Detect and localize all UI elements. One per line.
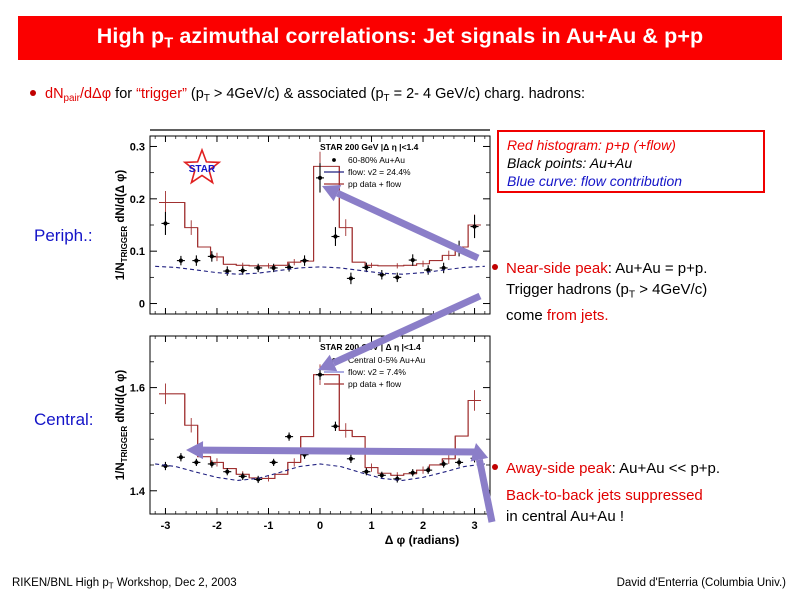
data-point [302, 453, 306, 457]
legend-point-marker [332, 358, 336, 362]
data-point [411, 471, 415, 475]
plot-legend-header: STAR 200 GeV |Δ η |<1.4 [320, 142, 419, 152]
data-point [333, 424, 337, 428]
y-axis-title: 1/NTRIGGER dN/d(Δ φ) [115, 170, 129, 281]
annotation-away-line-3: in central Au+Au ! [492, 506, 792, 527]
label-central: Central: [34, 410, 94, 430]
data-point [210, 462, 214, 466]
data-point [179, 455, 183, 459]
annot-near-head: Near-side peak [506, 260, 608, 277]
annotation-near-line-2: Trigger hadrons (pT > 4GeV/c) [492, 279, 792, 305]
annot-away-l2: Back-to-back jets suppressed [506, 487, 703, 504]
x-tick-label: 0 [317, 520, 323, 532]
data-point [287, 435, 291, 439]
legend-entry-label: flow: v2 = 7.4% [348, 367, 406, 377]
data-point [179, 259, 183, 263]
plot-frame [150, 336, 490, 514]
legend-entry-label: flow: v2 = 24.4% [348, 167, 411, 177]
data-point [395, 275, 399, 279]
data-point [163, 221, 167, 225]
data-point [442, 462, 446, 466]
annotation-near-line-1: Near-side peak: Au+Au = p+p. [492, 258, 792, 279]
data-point [210, 254, 214, 258]
bullet-dnpair-sub: pair [64, 93, 80, 104]
annot-near-l3-red: from jets. [547, 307, 609, 324]
legend-key-box: Red histogram: p+p (+flow) Black points:… [497, 130, 765, 193]
data-point [411, 258, 415, 262]
data-point [364, 470, 368, 474]
annot-near-l2-end: > 4GeV/c) [635, 281, 707, 298]
data-point [472, 456, 476, 460]
flow-curve [155, 266, 485, 274]
data-point [194, 259, 198, 263]
slide-footer: RIKEN/BNL High pT Workshop, Dec 2, 2003 … [0, 575, 800, 597]
x-tick-label: -3 [161, 520, 171, 532]
bullet-black-2: (p [187, 86, 204, 102]
data-point [241, 268, 245, 272]
data-point [225, 470, 229, 474]
annot-away-l3: in central Au+Au ! [506, 508, 624, 525]
bullet-dot-icon [30, 90, 36, 96]
annot-away-tail: : Au+Au << p+p. [612, 460, 720, 477]
x-tick-label: -1 [264, 520, 274, 532]
footer-left-text: RIKEN/BNL High pT Workshop, Dec 2, 2003 [12, 577, 237, 591]
data-point [349, 457, 353, 461]
plot-legend-header: STAR 200 GeV | Δ η |<1.4 [320, 342, 421, 352]
data-point [241, 474, 245, 478]
legend-entry-label: Central 0-5% Au+Au [348, 355, 426, 365]
label-peripheral: Periph.: [34, 226, 93, 246]
x-tick-label: 2 [420, 520, 426, 532]
x-tick-label: 1 [368, 520, 374, 532]
central-panel: -3-2-101231.41.6STAR 200 GeV | Δ η |<1.4… [115, 336, 490, 547]
bullet-black-3: > 4GeV/c) & associated (p [210, 86, 384, 102]
title-part-1: High p [97, 24, 164, 48]
data-point [349, 276, 353, 280]
legend-key-line-3: Blue curve: flow contribution [507, 172, 755, 190]
y-tick-label: 1.4 [130, 486, 146, 498]
histogram-pp [159, 375, 481, 479]
legend-entry-label: pp data + flow [348, 179, 402, 189]
data-point [225, 269, 229, 273]
data-point [457, 246, 461, 250]
page-title: High pT azimuthal correlations: Jet sign… [97, 24, 703, 52]
data-point [256, 266, 260, 270]
data-point [272, 460, 276, 464]
slide-canvas: High pT azimuthal correlations: Jet sign… [0, 0, 800, 600]
x-tick-label: -2 [212, 520, 222, 532]
flow-curve [155, 464, 485, 481]
annot-near-l2: Trigger hadrons (p [506, 281, 629, 298]
data-point [364, 265, 368, 269]
footer-left-b: Workshop, Dec 2, 2003 [114, 577, 237, 589]
data-point [442, 266, 446, 270]
annotation-away-line-2: Back-to-back jets suppressed [492, 485, 792, 506]
bullet-trigger: “trigger” [136, 86, 187, 102]
y-tick-label: 0.2 [130, 194, 145, 206]
legend-key-line-2: Black points: Au+Au [507, 154, 755, 172]
y-tick-label: 0.3 [130, 141, 145, 153]
y-tick-label: 0.1 [130, 246, 145, 258]
annotation-away-line-1: Away-side peak: Au+Au << p+p. [492, 458, 792, 479]
y-axis-title: 1/NTRIGGER dN/d(Δ φ) [115, 370, 129, 481]
annotation-near-line-3: come from jets. [492, 305, 792, 326]
annot-near-tail: : Au+Au = p+p. [608, 260, 708, 277]
legend-key-line-1: Red histogram: p+p (+flow) [507, 136, 755, 154]
footer-left-a: RIKEN/BNL High p [12, 577, 109, 589]
plots-svg: 00.10.20.3STAR 200 GeV |Δ η |<1.460-80% … [112, 128, 502, 560]
annot-near-l3-black: come [506, 307, 547, 324]
data-point [194, 460, 198, 464]
data-point [472, 224, 476, 228]
data-point [318, 373, 322, 377]
star-logo-text: STAR [189, 164, 216, 175]
annot-away-head: Away-side peak [506, 460, 612, 477]
slide-title-bar: High pT azimuthal correlations: Jet sign… [18, 16, 782, 60]
data-point [318, 176, 322, 180]
annotation-away-side: Away-side peak: Au+Au << p+p. Back-to-ba… [492, 458, 792, 527]
title-subscript-t: T [164, 36, 173, 52]
data-point [457, 460, 461, 464]
annotation-near-side: Near-side peak: Au+Au = p+p. Trigger had… [492, 258, 792, 326]
legend-entry-label: 60-80% Au+Au [348, 155, 405, 165]
star-logo: STAR [185, 150, 219, 183]
footer-right-text: David d'Enterria (Columbia Univ.) [617, 577, 786, 589]
legend-entry-label: pp data + flow [348, 379, 402, 389]
y-tick-label: 1.6 [130, 383, 145, 395]
peripheral-panel: 00.10.20.3STAR 200 GeV |Δ η |<1.460-80% … [115, 136, 490, 314]
bullet-dnpair: dN [45, 86, 64, 102]
bullet-black-4: = 2- 4 GeV/c) charg. hadrons: [390, 86, 585, 102]
x-tick-label: 3 [471, 520, 477, 532]
legend-point-marker [332, 158, 336, 162]
x-axis-title: Δ φ (radians) [385, 533, 460, 547]
title-part-2: azimuthal correlations: Jet signals in A… [173, 24, 703, 48]
bullet-black-1: for [111, 86, 136, 102]
correlation-plots: 00.10.20.3STAR 200 GeV |Δ η |<1.460-80% … [112, 128, 502, 560]
data-point [333, 234, 337, 238]
data-point [302, 259, 306, 263]
y-tick-label: 0 [139, 299, 145, 311]
data-point [426, 468, 430, 472]
data-point [272, 266, 276, 270]
bullet-dphi: /dΔφ [80, 86, 111, 102]
main-bullet-line: dNpair/dΔφ for “trigger” (pT > 4GeV/c) &… [30, 86, 790, 104]
data-point [380, 473, 384, 477]
